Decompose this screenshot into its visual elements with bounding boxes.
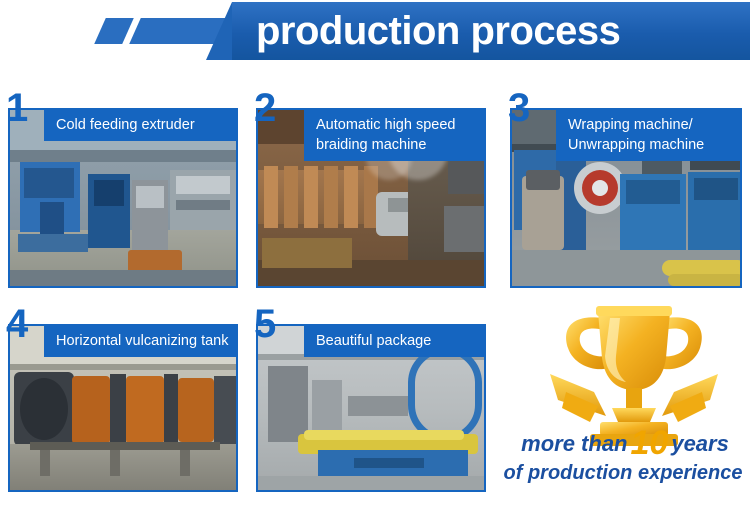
experience-years-number: 10 bbox=[628, 424, 672, 462]
step-number-3: 3 bbox=[508, 88, 530, 128]
experience-years-word: years bbox=[671, 431, 729, 456]
step-card-5: Beautiful package bbox=[256, 324, 486, 492]
step-label-4: Horizontal vulcanizing tank bbox=[44, 326, 238, 357]
page-header: production process bbox=[0, 0, 750, 62]
header-accent-stripe-small bbox=[94, 18, 134, 44]
step-label-2: Automatic high speed braiding machine bbox=[304, 110, 486, 161]
step-label-5: Beautiful package bbox=[304, 326, 486, 357]
experience-prefix: more than bbox=[521, 431, 627, 456]
step-card-1: Cold feeding extruder bbox=[8, 108, 238, 288]
step-card-3: Wrapping machine/ Unwrapping machine bbox=[510, 108, 742, 288]
step-number-4: 4 bbox=[6, 304, 28, 344]
step-card-2: Automatic high speed braiding machine bbox=[256, 108, 486, 288]
step-label-3: Wrapping machine/ Unwrapping machine bbox=[556, 110, 742, 161]
step-card-4: Horizontal vulcanizing tank bbox=[8, 324, 238, 492]
experience-suffix: of production experience bbox=[498, 462, 748, 492]
step-number-2: 2 bbox=[254, 88, 276, 128]
step-number-1: 1 bbox=[6, 88, 28, 128]
page-title: production process bbox=[256, 8, 748, 56]
experience-years-line: more than10years bbox=[500, 424, 750, 458]
step-label-1: Cold feeding extruder bbox=[44, 110, 238, 141]
step-number-5: 5 bbox=[254, 304, 276, 344]
